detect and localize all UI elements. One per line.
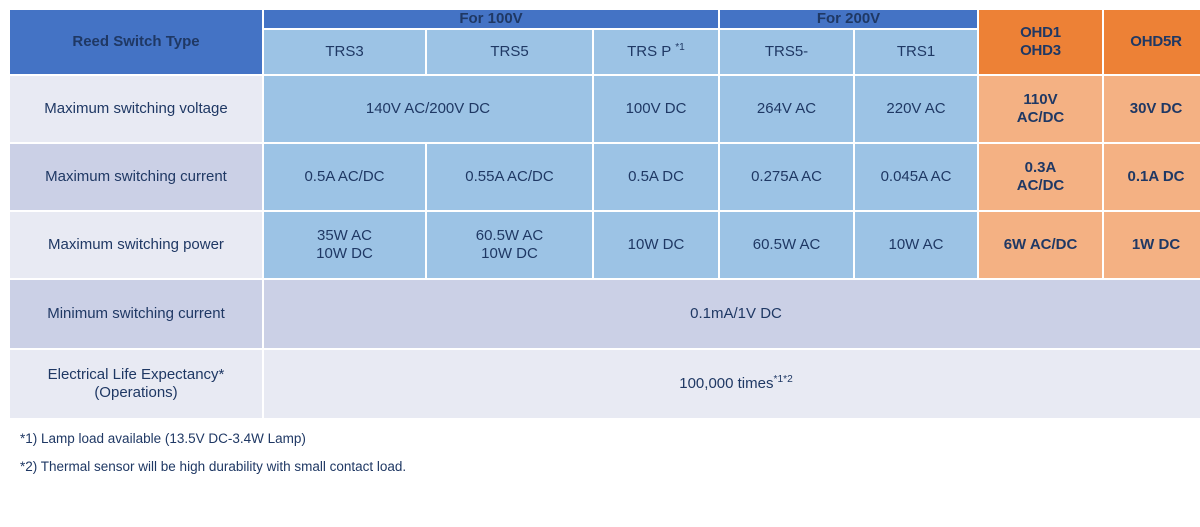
row-label-maximum-switching-voltage: Maximum switching voltage — [10, 76, 262, 142]
header-model-trs3: TRS3 — [264, 30, 425, 74]
header-model-trs1: TRS1 — [855, 30, 977, 74]
footnote-2: *2) Thermal sensor will be high durabili… — [20, 460, 1192, 475]
cell-voltage-trs5-dash: 264V AC — [720, 76, 853, 142]
header-model-trs5-dash-label: TRS5- — [765, 43, 808, 60]
header-group-for-200v: For 200V — [720, 10, 977, 28]
header-model-trs1-label: TRS1 — [897, 43, 935, 60]
cell-power-trs3: 35W AC 10W DC — [264, 212, 425, 278]
cell-voltage-ohd1-ohd3: 110V AC/DC — [979, 76, 1102, 142]
row-label-minimum-switching-current: Minimum switching current — [10, 280, 262, 348]
header-model-trs5-label: TRS5 — [490, 43, 528, 60]
cell-current-trs3: 0.5A AC/DC — [264, 144, 425, 210]
row-label-electrical-life-expectancy: Electrical Life Expectancy* (Operations) — [10, 350, 262, 418]
header-group-for-100v: For 100V — [264, 10, 718, 28]
cell-current-ohd5r: 0.1A DC — [1104, 144, 1200, 210]
header-model-trs-p-label: TRS P — [627, 43, 675, 60]
cell-power-trs5: 60.5W AC 10W DC — [427, 212, 592, 278]
table-body: Reed Switch Type For 100V For 200V OHD1 … — [10, 10, 1200, 418]
header-ohd5r: OHD5R — [1104, 10, 1200, 74]
cell-current-ohd1-ohd3: 0.3A AC/DC — [979, 144, 1102, 210]
row-label-maximum-switching-current: Maximum switching current — [10, 144, 262, 210]
reed-switch-spec-table: Reed Switch Type For 100V For 200V OHD1 … — [8, 8, 1200, 420]
cell-current-trs1: 0.045A AC — [855, 144, 977, 210]
cell-voltage-trs3-trs5: 140V AC/200V DC — [264, 76, 592, 142]
header-model-trs5: TRS5 — [427, 30, 592, 74]
cell-voltage-ohd5r: 30V DC — [1104, 76, 1200, 142]
table-row: Maximum switching power 35W AC 10W DC 60… — [10, 212, 1200, 278]
header-model-trs3-label: TRS3 — [325, 43, 363, 60]
cell-power-trs-p: 10W DC — [594, 212, 718, 278]
row-label-maximum-switching-power: Maximum switching power — [10, 212, 262, 278]
cell-current-trs-p: 0.5A DC — [594, 144, 718, 210]
cell-voltage-trs-p: 100V DC — [594, 76, 718, 142]
cell-electrical-life-expectancy-footnote-marker: *1*2 — [773, 374, 792, 385]
cell-power-ohd5r: 1W DC — [1104, 212, 1200, 278]
table-row: Minimum switching current 0.1mA/1V DC — [10, 280, 1200, 348]
table-row: Electrical Life Expectancy* (Operations)… — [10, 350, 1200, 418]
cell-current-trs5: 0.55A AC/DC — [427, 144, 592, 210]
footnotes: *1) Lamp load available (13.5V DC-3.4W L… — [8, 432, 1192, 475]
cell-current-trs5-dash: 0.275A AC — [720, 144, 853, 210]
header-model-trs-p: TRS P *1 — [594, 30, 718, 74]
cell-power-trs1: 10W AC — [855, 212, 977, 278]
footnote-1: *1) Lamp load available (13.5V DC-3.4W L… — [20, 432, 1192, 447]
header-model-trs-p-footnote-marker: *1 — [675, 42, 685, 53]
cell-electrical-life-expectancy-value: 100,000 times — [679, 375, 773, 392]
header-corner-reed-switch-type: Reed Switch Type — [10, 10, 262, 74]
spec-table-page: Reed Switch Type For 100V For 200V OHD1 … — [0, 0, 1200, 527]
header-row-groups: Reed Switch Type For 100V For 200V OHD1 … — [10, 10, 1200, 28]
header-model-trs5-dash: TRS5- — [720, 30, 853, 74]
table-row: Maximum switching voltage 140V AC/200V D… — [10, 76, 1200, 142]
cell-power-ohd1-ohd3: 6W AC/DC — [979, 212, 1102, 278]
table-row: Maximum switching current 0.5A AC/DC 0.5… — [10, 144, 1200, 210]
cell-minimum-switching-current-all: 0.1mA/1V DC — [264, 280, 1200, 348]
cell-electrical-life-expectancy-all: 100,000 times*1*2 — [264, 350, 1200, 418]
header-ohd1-ohd3: OHD1 OHD3 — [979, 10, 1102, 74]
cell-voltage-trs1: 220V AC — [855, 76, 977, 142]
cell-power-trs5-dash: 60.5W AC — [720, 212, 853, 278]
